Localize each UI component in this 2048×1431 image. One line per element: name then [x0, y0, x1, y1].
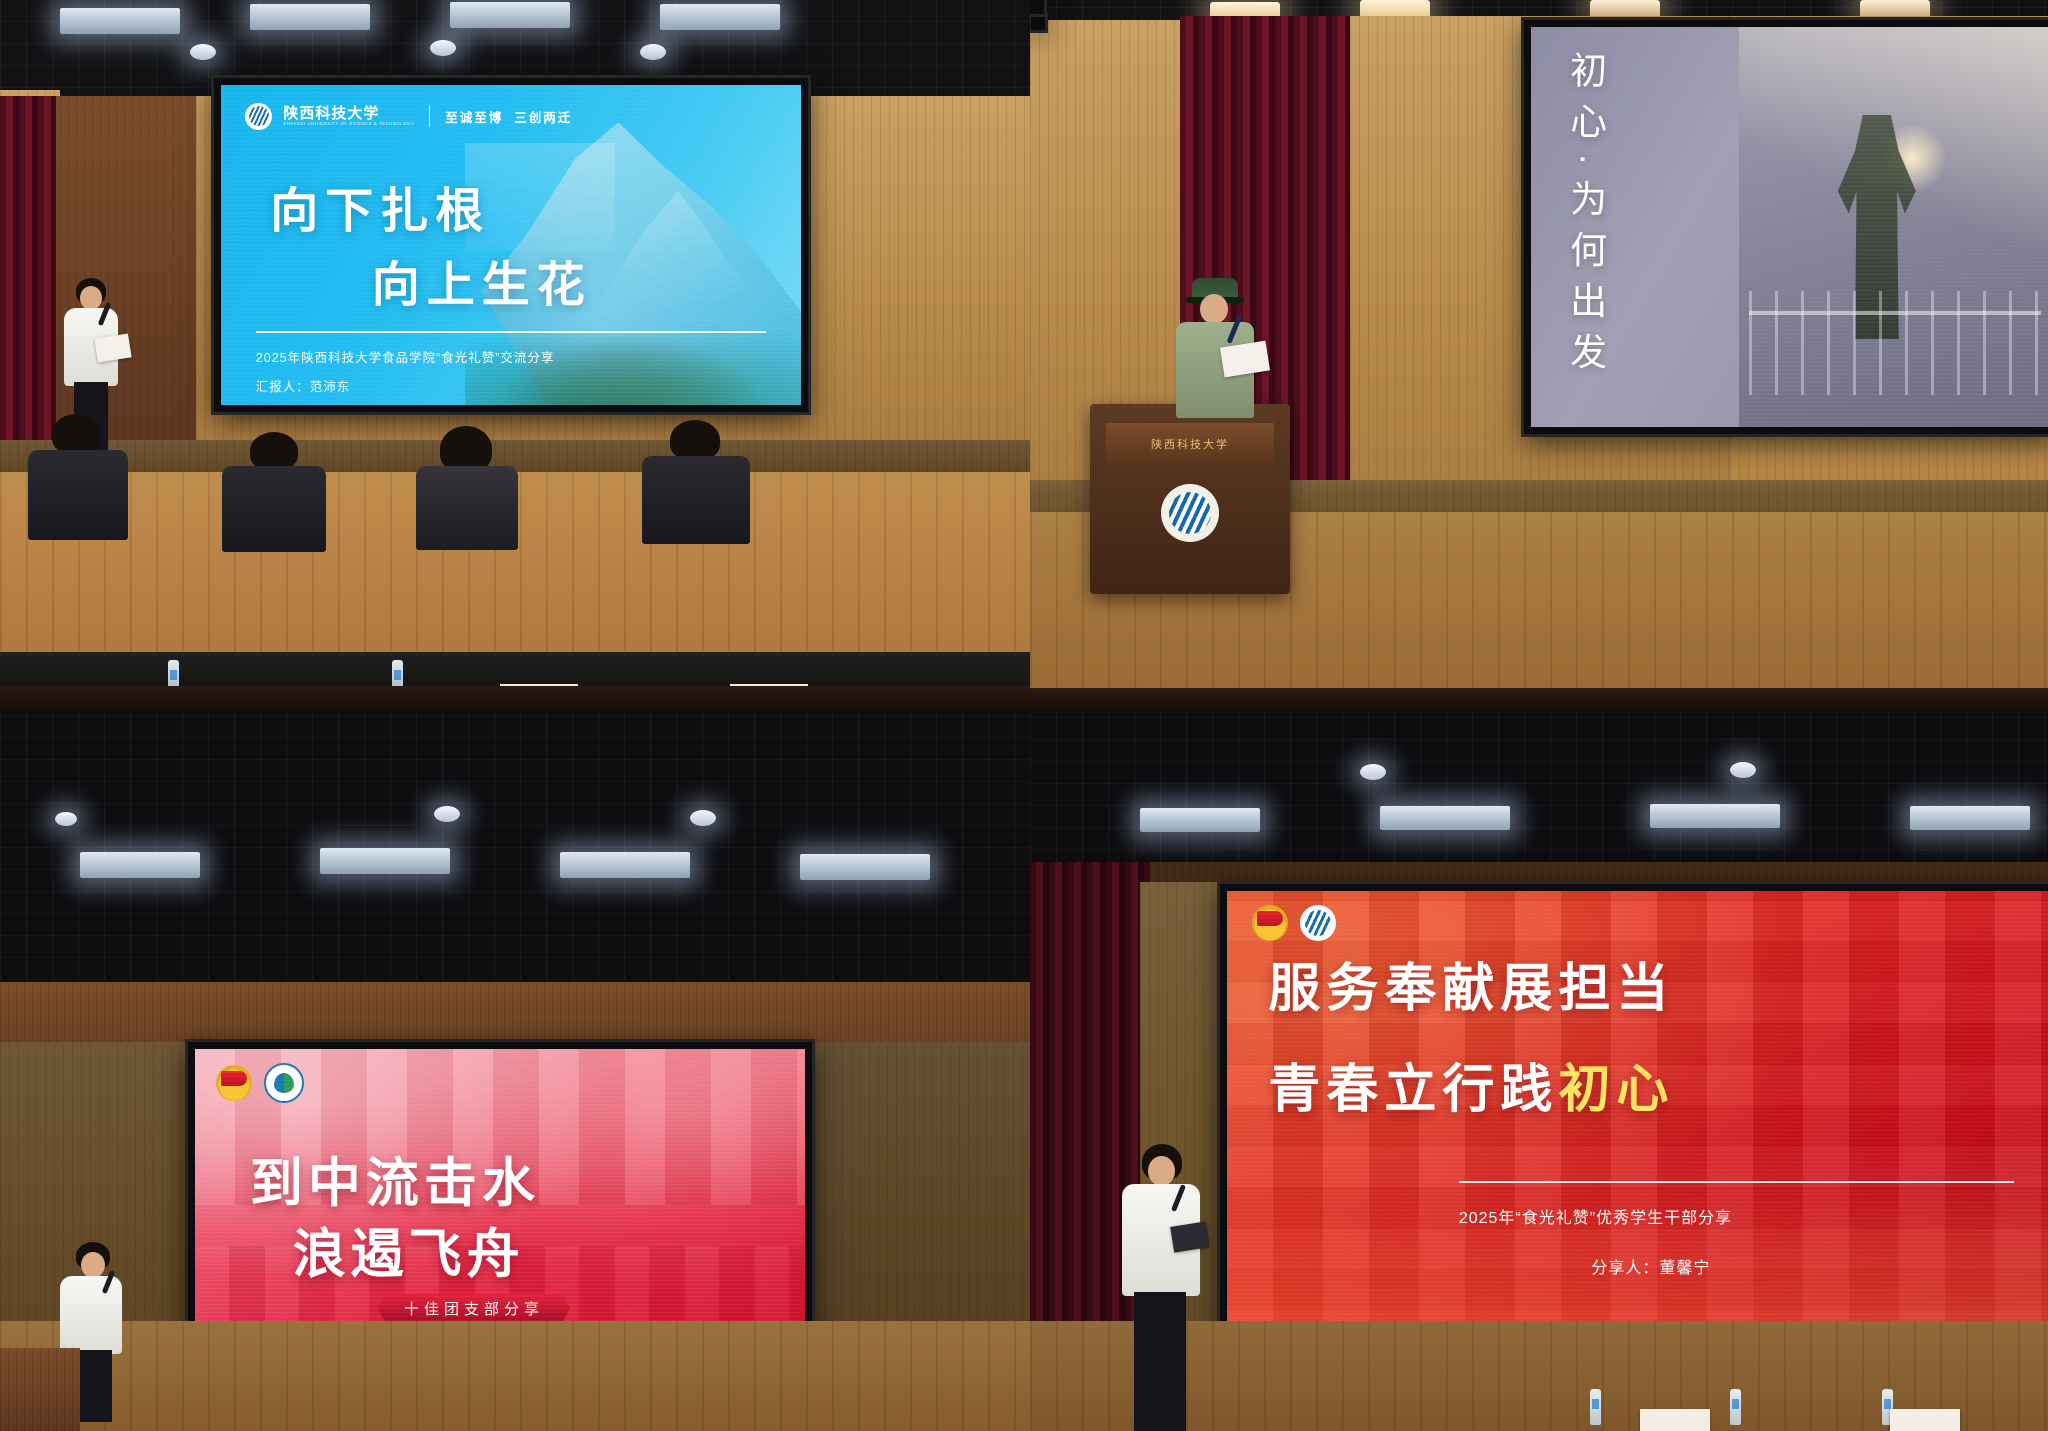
led-screen: 服务奉献展担当 青春立行践初心 2025年“食光礼赞”优秀学生干部分享 分享人：…	[1220, 884, 2048, 1358]
downlight	[190, 44, 216, 60]
ceiling-light	[320, 848, 450, 874]
water-bottle	[1590, 1389, 1601, 1425]
stage-front-edge	[0, 686, 1030, 712]
downlight	[1360, 764, 1386, 780]
jacket	[416, 466, 518, 550]
hair	[250, 432, 298, 470]
slide-badges	[1252, 905, 1336, 941]
slide-subtitle: 2025年“食光礼赞”优秀学生干部分享	[1459, 1204, 1732, 1228]
audience-person	[218, 432, 330, 542]
hair	[52, 414, 100, 454]
face	[80, 286, 102, 310]
downlight	[640, 44, 666, 60]
ceiling-light	[60, 8, 180, 34]
communist-youth-league-icon	[216, 1065, 252, 1101]
face	[1200, 294, 1228, 324]
shirt	[60, 1276, 122, 1354]
ceiling-light	[1650, 804, 1780, 828]
speaker-person	[1170, 278, 1260, 418]
slide-subtitle: 2025年陕西科技大学食品学院“食光礼赞”交流分享	[256, 347, 555, 366]
panel-bottom-right: 服务奉献展担当 青春立行践初心 2025年“食光礼赞”优秀学生干部分享 分享人：…	[1030, 712, 2048, 1431]
tablet	[1170, 1221, 1210, 1252]
railing	[1749, 291, 2040, 395]
screen-anchor-2	[1030, 0, 1044, 14]
slide-title-line-1: 服务奉献展担当	[1268, 946, 1674, 1021]
podium-plate: 陕西科技大学	[1106, 423, 1274, 465]
podium: 陕西科技大学	[1090, 404, 1290, 594]
downlight	[430, 40, 456, 56]
motto-two: 三创两迁	[514, 107, 572, 126]
script-paper	[94, 333, 131, 362]
ceiling-light	[800, 854, 930, 880]
name-card	[1890, 1409, 1960, 1431]
water-bottle	[1730, 1389, 1741, 1425]
stage-floor	[0, 1321, 1030, 1431]
slide-title-line-2-b: 初心	[1558, 1061, 1674, 1119]
slide-title-line-1: 到中流击水	[250, 1141, 540, 1217]
hair	[670, 420, 720, 460]
name-card	[1640, 1409, 1710, 1431]
slide-title-line-2-a: 青春立行践	[1268, 1061, 1558, 1119]
slide-presenter: 分享人：董馨宁	[1591, 1254, 1710, 1278]
ceiling-light	[1380, 806, 1510, 830]
ceiling-light	[1910, 806, 2030, 830]
slide-divider-rule	[1459, 1181, 2014, 1183]
led-screen: 初心·为何出发	[1524, 20, 2048, 434]
jacket	[222, 466, 326, 552]
slide-title-line-1: 向下扎根	[270, 171, 490, 241]
lectern-block	[0, 1348, 80, 1431]
podium-plate-text: 陕西科技大学	[1151, 436, 1229, 452]
audience-person	[640, 420, 752, 540]
screen-anchor	[1031, 16, 1045, 30]
slide-ribbon-label: 十佳团支部分享	[378, 1294, 570, 1323]
slide-logo-row: 陕西科技大学 SHAANXI UNIVERSITY OF SCIENCE & T…	[245, 103, 572, 130]
university-name-cn: 陕西科技大学	[283, 105, 379, 122]
downlight	[55, 812, 77, 826]
ceiling-light	[250, 4, 370, 30]
slide-blue: 陕西科技大学 SHAANXI UNIVERSITY OF SCIENCE & T…	[221, 85, 801, 405]
downlight	[1730, 762, 1756, 778]
audience-person	[22, 414, 132, 534]
ceiling-light	[660, 4, 780, 30]
stage-curtain	[0, 96, 56, 456]
university-name: 陕西科技大学 SHAANXI UNIVERSITY OF SCIENCE & T…	[283, 106, 414, 126]
communist-youth-league-icon	[1252, 905, 1288, 941]
face	[1148, 1156, 1175, 1186]
downlight	[690, 810, 716, 826]
ceiling-grid	[1030, 712, 2048, 872]
slide-grey: 初心·为何出发	[1531, 27, 2048, 427]
trousers	[1134, 1292, 1186, 1431]
university-emblem-icon	[245, 103, 272, 130]
jacket	[28, 450, 128, 540]
panel-top-left: 陕西科技大学 SHAANXI UNIVERSITY OF SCIENCE & T…	[0, 0, 1030, 712]
led-screen: 陕西科技大学 SHAANXI UNIVERSITY OF SCIENCE & T…	[214, 78, 808, 412]
university-emblem-icon	[1161, 484, 1219, 542]
ceiling-light	[1140, 808, 1260, 832]
panel-bottom-left: 到中流击水 浪遏飞舟 十佳团支部分享 食品拔尖22团支部 宁洁元 2025年10…	[0, 712, 1030, 1431]
ceiling	[0, 712, 1030, 1002]
slide-badges	[216, 1063, 304, 1103]
face	[81, 1252, 105, 1278]
slide-presenter: 汇报人：范沛东	[256, 376, 351, 395]
panel-top-right: 初心·为何出发 陕西科技大学	[1030, 0, 2048, 712]
ceiling-light	[450, 2, 570, 28]
ceiling	[1030, 712, 2048, 872]
photo-collage: 陕西科技大学 SHAANXI UNIVERSITY OF SCIENCE & T…	[0, 0, 2048, 1431]
ceiling-light	[560, 852, 690, 878]
divider	[429, 105, 430, 127]
slide-bright-red: 服务奉献展担当 青春立行践初心 2025年“食光礼赞”优秀学生干部分享 分享人：…	[1227, 891, 2048, 1351]
slide-title-line-2: 向上生花	[372, 245, 592, 315]
audience-person	[412, 426, 522, 542]
motto-one: 至诚至博	[445, 107, 503, 126]
stage-front-edge	[1030, 688, 2048, 712]
university-emblem-icon	[1300, 905, 1336, 941]
presenter-person	[1118, 1144, 1208, 1431]
slide-title-line-2: 浪遏飞舟	[293, 1212, 525, 1288]
school-emblem-icon	[264, 1063, 304, 1103]
university-name-en: SHAANXI UNIVERSITY OF SCIENCE & TECHNOLO…	[283, 122, 414, 126]
slide-title-line-2: 青春立行践初心	[1268, 1047, 1674, 1122]
ceiling-light	[80, 852, 200, 878]
slide-vertical-title: 初心·为何出发	[1565, 51, 1604, 383]
slide-divider-rule	[256, 331, 766, 333]
downlight	[434, 806, 460, 822]
jacket	[642, 456, 750, 544]
